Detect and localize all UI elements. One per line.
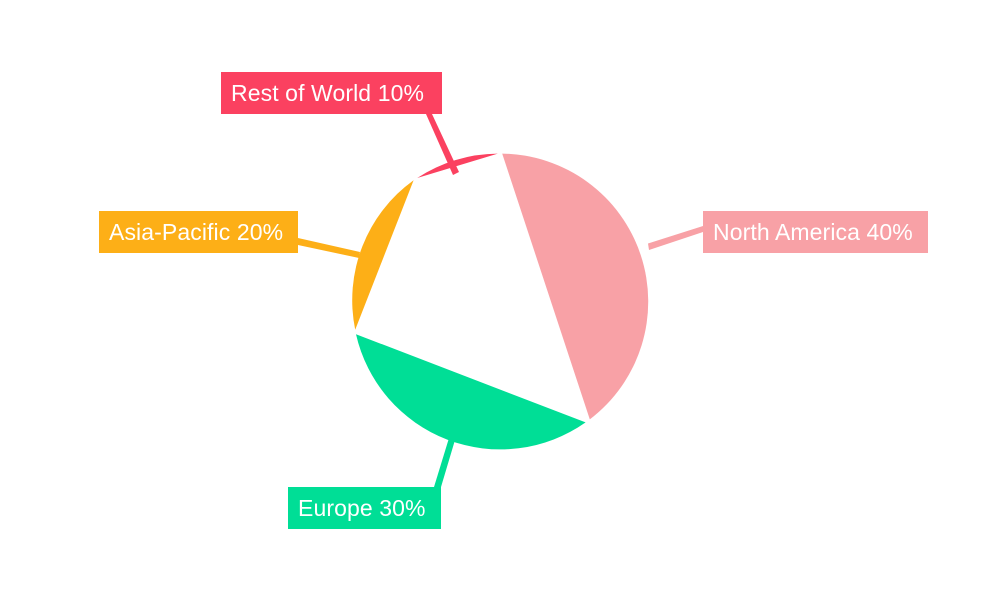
pie-slice-europe[interactable] xyxy=(356,334,586,449)
slice-label-north-america[interactable]: North America 40% xyxy=(703,211,928,253)
slice-label-rest-of-world-text: Rest of World 10% xyxy=(231,82,424,105)
pie-slices xyxy=(352,154,648,450)
pie-chart-container: North America 40% Europe 30% Asia-Pacifi… xyxy=(0,0,1000,600)
slice-label-asia-pacific[interactable]: Asia-Pacific 20% xyxy=(99,211,298,253)
slice-label-europe[interactable]: Europe 30% xyxy=(288,487,441,529)
leader-line-north-america xyxy=(648,226,703,250)
pie-slice-asia-pacific[interactable] xyxy=(352,180,413,330)
pie-slice-north-america[interactable] xyxy=(502,154,648,420)
pie-slice-rest-of-world[interactable] xyxy=(417,154,498,178)
pie-chart-canvas xyxy=(0,0,1000,600)
slice-label-north-america-text: North America 40% xyxy=(713,221,913,244)
slice-label-europe-text: Europe 30% xyxy=(298,497,426,520)
leader-line-europe xyxy=(434,438,455,487)
slice-label-rest-of-world[interactable]: Rest of World 10% xyxy=(221,72,442,114)
leader-line-asia-pacific xyxy=(298,238,360,258)
slice-label-asia-pacific-text: Asia-Pacific 20% xyxy=(109,221,283,244)
